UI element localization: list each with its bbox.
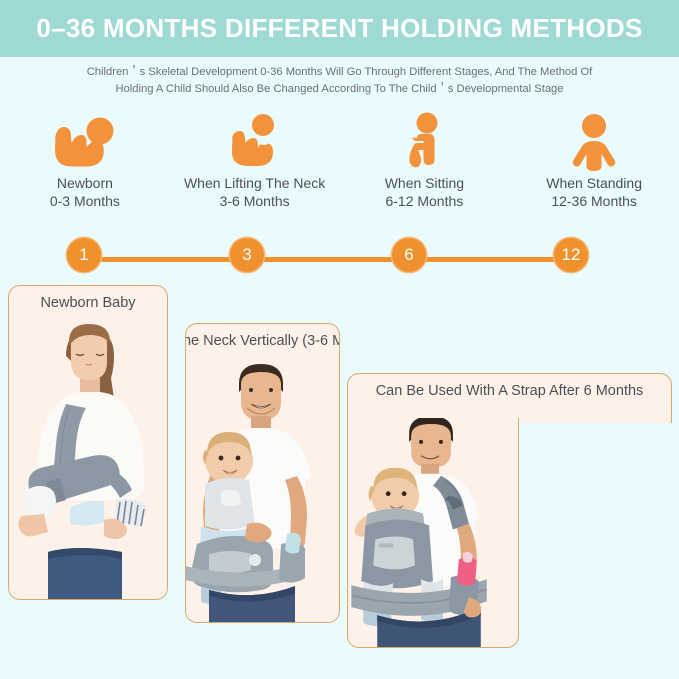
photo-card-strap-after-6-months: Can Be Used With A Strap After 6 Months: [347, 373, 672, 423]
man-holding-toddler-hipseat-image: [186, 358, 339, 623]
stage-label-line-2: 6-12 Months: [385, 192, 463, 210]
infographic-page: 0–36 MONTHS DIFFERENT HOLDING METHODS Ch…: [0, 0, 679, 679]
stage-row: Newborn 0-3 Months When Lifting The Neck…: [0, 112, 679, 222]
stage-label-line-1: When Lifting The Neck: [184, 174, 325, 192]
timeline-rail: [84, 257, 571, 262]
timeline-node-1: 1: [67, 238, 101, 272]
photo-card-hold-neck-vertically: Hold The Neck Vertically (3-6 Months): [185, 323, 340, 623]
card-title: Hold The Neck Vertically (3-6 Months): [186, 324, 339, 358]
baby-sitting-icon: [381, 112, 467, 174]
card-photo-newborn: [9, 320, 167, 600]
card-photo-strap-carrier: [347, 418, 519, 648]
card-title: Can Be Used With A Strap After 6 Months: [348, 374, 671, 408]
subtitle-line-1: Children＇s Skeletal Development 0-36 Mon…: [0, 64, 679, 81]
stage-label-line-2: 12-36 Months: [551, 192, 637, 210]
man-carrying-toddler-strap-carrier-image: [348, 418, 518, 647]
page-title: 0–36 MONTHS DIFFERENT HOLDING METHODS: [36, 13, 642, 44]
stage-label-line-2: 3-6 Months: [220, 192, 290, 210]
stage-label-line-1: When Standing: [546, 174, 642, 192]
baby-lying-icon: [42, 112, 128, 174]
timeline-node-3: 3: [230, 238, 264, 272]
photo-card-newborn: Newborn Baby: [8, 285, 168, 600]
subtitle-text: Children＇s Skeletal Development 0-36 Mon…: [0, 64, 679, 98]
woman-holding-newborn-image: [9, 320, 167, 600]
timeline-node-6: 6: [392, 238, 426, 272]
subtitle-line-2: Holding A Child Should Also Be Changed A…: [0, 81, 679, 98]
card-photo-hold-neck: [186, 358, 339, 623]
age-timeline: 1 3 6 12: [0, 238, 679, 280]
card-title: Newborn Baby: [9, 286, 167, 320]
stage-label-line-1: When Sitting: [385, 174, 464, 192]
stage-item-sitting: When Sitting 6-12 Months: [340, 112, 510, 222]
baby-standing-icon: [551, 112, 637, 174]
header-banner: 0–36 MONTHS DIFFERENT HOLDING METHODS: [0, 0, 679, 57]
stage-label-line-2: 0-3 Months: [50, 192, 120, 210]
stage-label-line-1: Newborn: [57, 174, 113, 192]
stage-item-lifting-neck: When Lifting The Neck 3-6 Months: [170, 112, 340, 222]
stage-item-newborn: Newborn 0-3 Months: [0, 112, 170, 222]
stage-item-standing: When Standing 12-36 Months: [509, 112, 679, 222]
baby-lifting-neck-icon: [212, 112, 298, 174]
timeline-node-12: 12: [554, 238, 588, 272]
